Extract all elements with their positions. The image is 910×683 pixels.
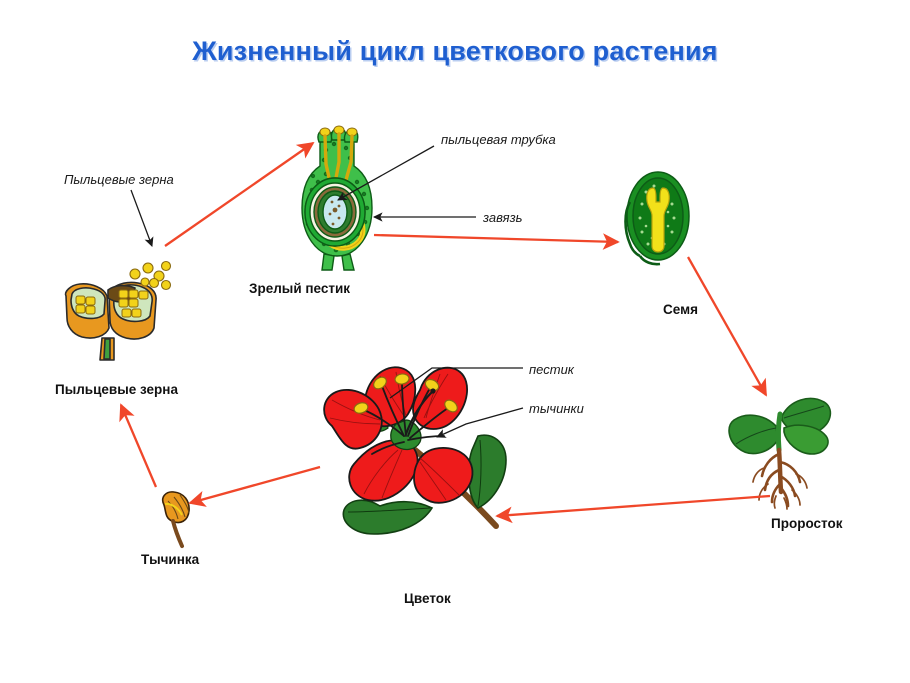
leader-pistil xyxy=(390,368,523,398)
leader-pollen-tube xyxy=(338,146,434,200)
callout-label-pollen-grains: Пыльцевые зерна xyxy=(64,172,174,187)
callout-leader-layer xyxy=(0,0,910,683)
callout-label-pistil: пестик xyxy=(529,362,574,377)
callout-label-stamens: тычинки xyxy=(529,401,584,416)
diagram-canvas: Жизненный цикл цветкового растения xyxy=(0,0,910,683)
stage-label-stamen: Тычинка xyxy=(141,552,199,567)
stage-label-mature-pistil: Зрелый пестик xyxy=(249,281,350,296)
stage-label-seed: Семя xyxy=(663,302,698,317)
leader-stamens xyxy=(437,408,523,437)
stage-label-flower: Цветок xyxy=(404,591,451,606)
leader-pollen-grains xyxy=(131,190,152,246)
callout-label-ovary: завязь xyxy=(483,210,522,225)
callout-label-pollen-tube: пыльцевая трубка xyxy=(441,132,556,147)
stage-label-pollen-grains: Пыльцевые зерна xyxy=(55,382,178,397)
stage-label-seedling: Проросток xyxy=(771,516,842,531)
